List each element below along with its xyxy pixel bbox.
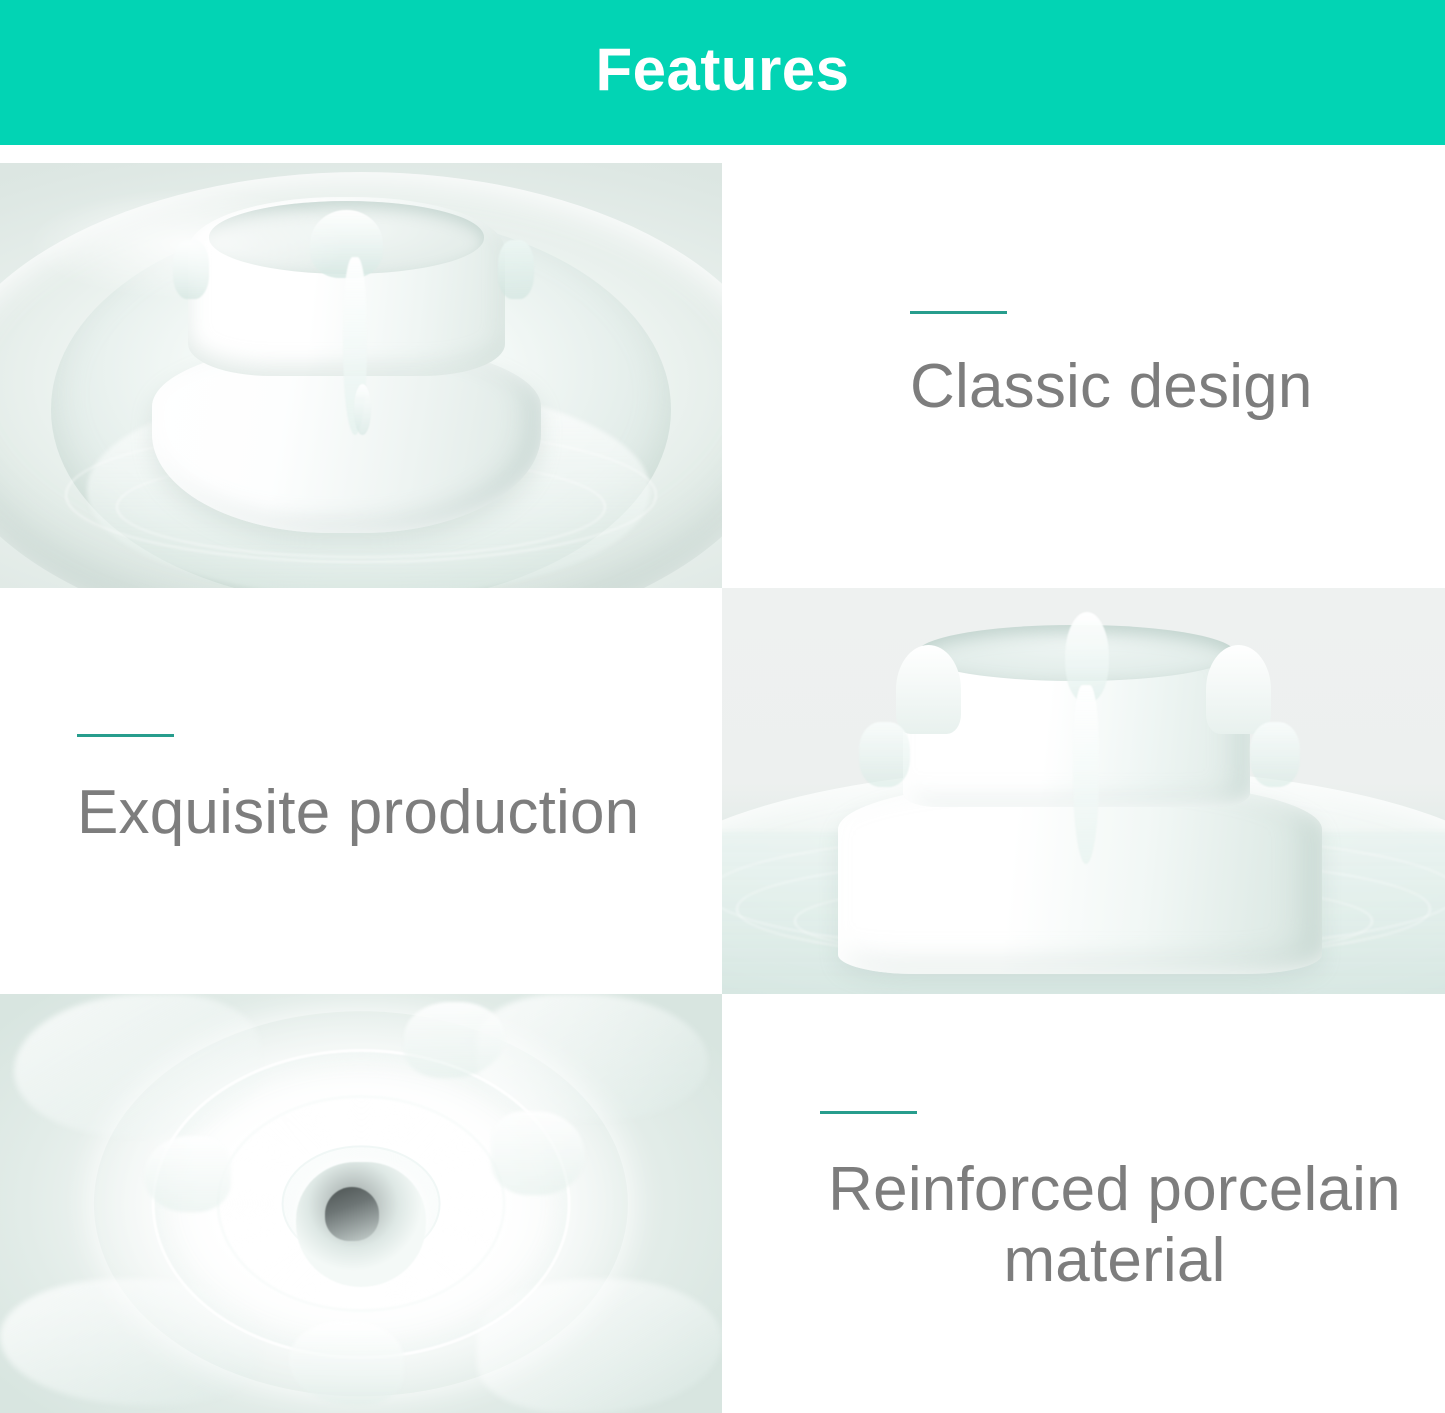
- feature-caption-classic-design: Classic design: [910, 351, 1445, 422]
- feature-text-classic-design: Classic design: [722, 145, 1445, 588]
- page-title: Features: [595, 40, 849, 106]
- fountain-three-quarter-photo: [0, 163, 722, 588]
- features-header-bar: Features: [0, 0, 1445, 145]
- feature-text-reinforced-porcelain-material: Reinforced porcelain material: [722, 994, 1445, 1413]
- feature-image-reinforced-porcelain-material: [0, 994, 722, 1413]
- fountain-topdown-photo: [0, 994, 722, 1413]
- fountain-front-closeup-photo: [722, 588, 1445, 994]
- feature-caption-exquisite-production: Exquisite production: [77, 777, 722, 848]
- feature-caption-reinforced-porcelain-material: Reinforced porcelain material: [820, 1154, 1445, 1297]
- feature-image-exquisite-production: [722, 588, 1445, 994]
- feature-text-exquisite-production: Exquisite production: [0, 588, 722, 994]
- accent-rule-classic-design: [910, 311, 1007, 314]
- features-infographic: Features Classic design: [0, 0, 1445, 1413]
- accent-rule-exquisite-production: [77, 734, 174, 737]
- accent-rule-reinforced-porcelain-material: [820, 1111, 917, 1114]
- feature-image-classic-design: [0, 163, 722, 588]
